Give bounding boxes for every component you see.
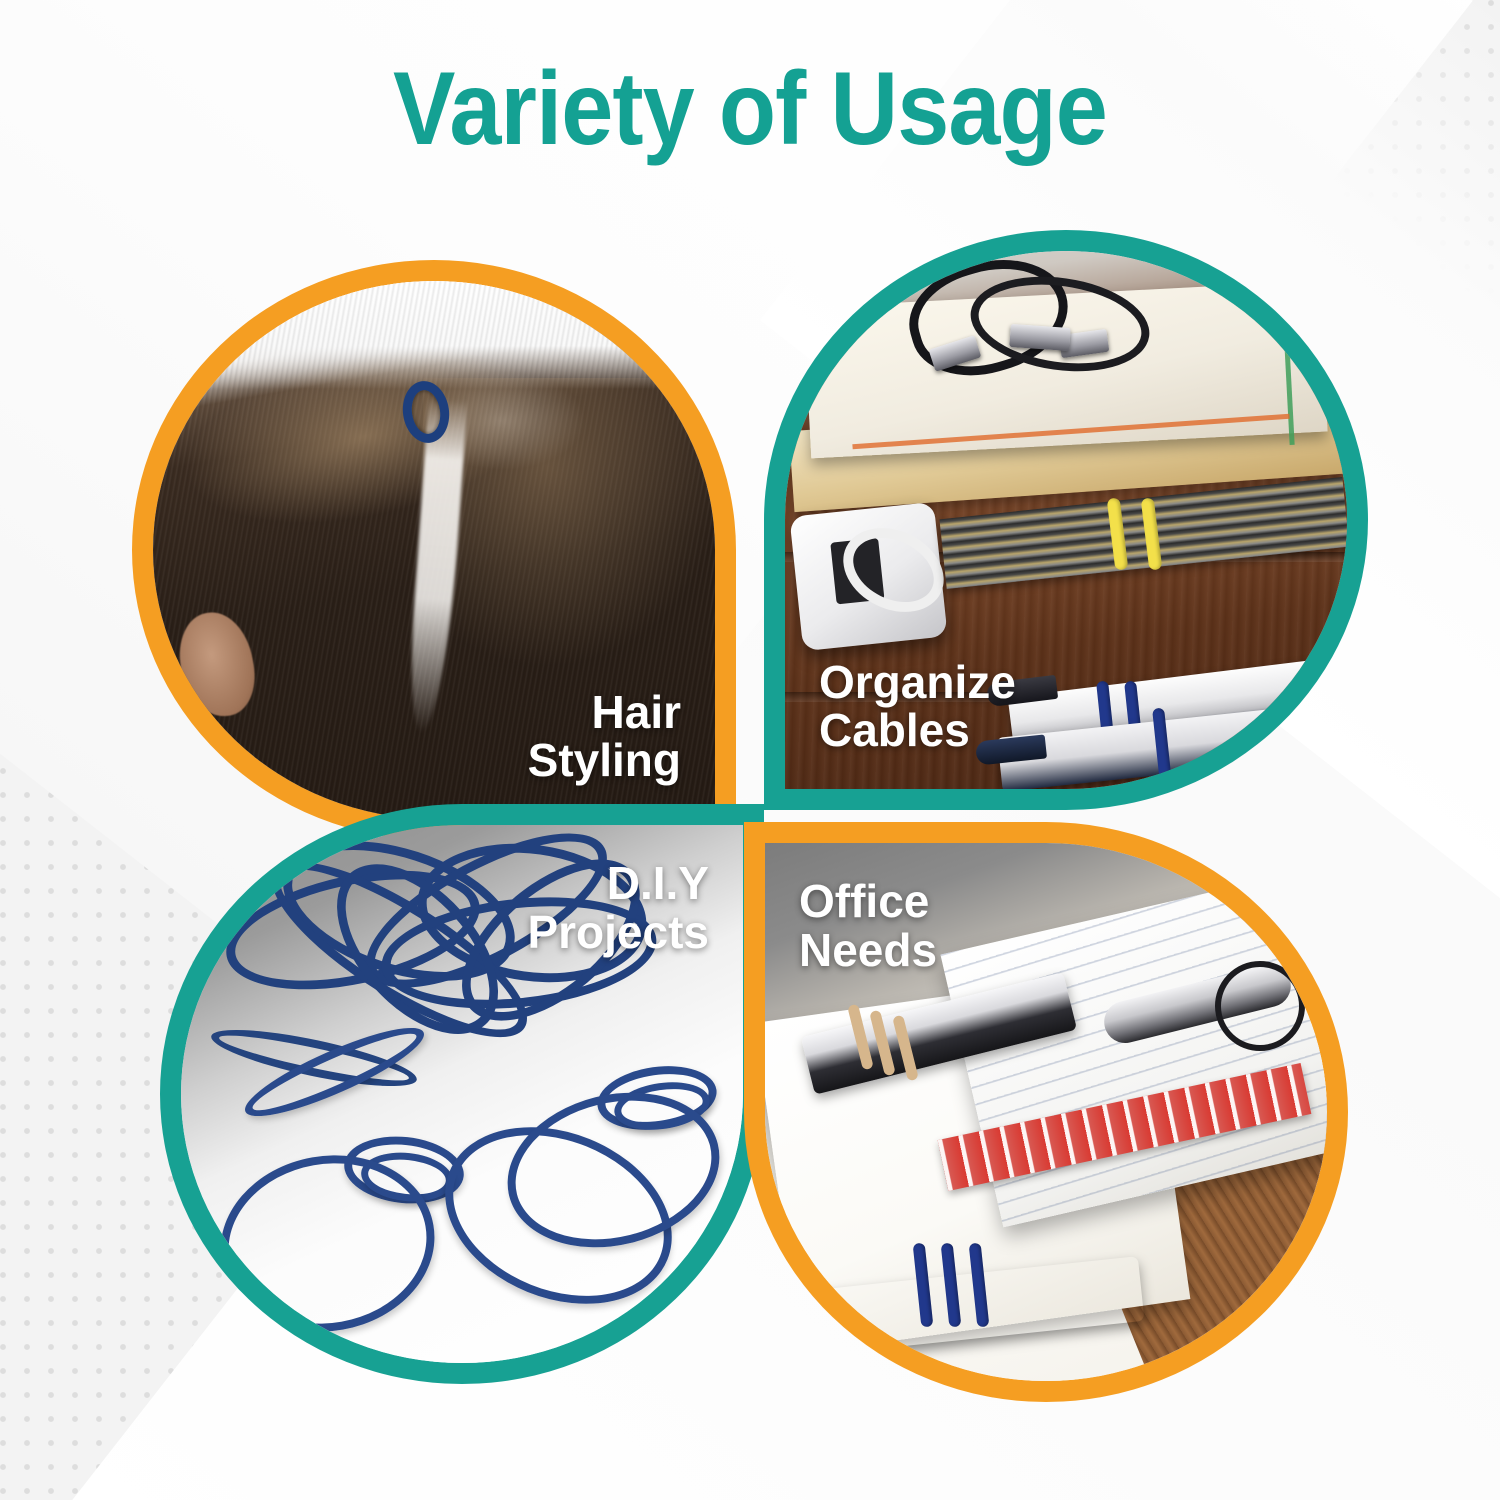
petal-label-hair-styling: Hair Styling	[528, 688, 681, 786]
petal-diy-projects[interactable]: D.I.Y Projects	[160, 804, 764, 1384]
petal-label-diy-projects: D.I.Y Projects	[527, 859, 709, 957]
petal-label-office-needs: Office Needs	[799, 877, 937, 975]
page-title: Variety of Usage	[75, 56, 1425, 162]
petal-organize-cables[interactable]: Organize Cables	[764, 230, 1368, 810]
petal-hair-styling[interactable]: Hair Styling	[132, 260, 736, 840]
usage-petal-grid: Hair Styling	[132, 212, 1368, 1402]
petal-office-needs[interactable]: Office Needs	[744, 822, 1348, 1402]
petal-label-organize-cables: Organize Cables	[819, 658, 1016, 756]
